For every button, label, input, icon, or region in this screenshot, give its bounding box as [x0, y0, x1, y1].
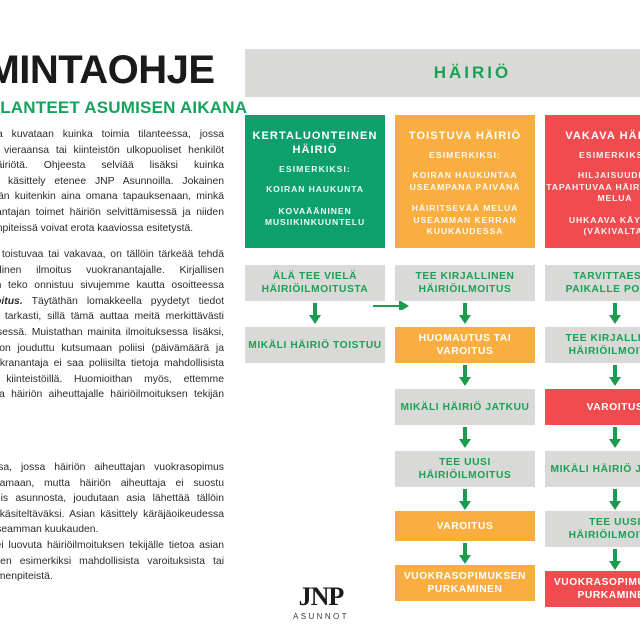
flow-step-box: TEE KIRJALLINEN HÄIRIÖILMOITUS — [545, 327, 640, 363]
flow-step-box: TEE UUSI HÄIRIÖILMOITUS — [545, 511, 640, 547]
flow-step-label: MIKÄLI HÄIRIÖ JATKUU — [401, 401, 530, 414]
flow-step-box: VUOKRASOPIMUKSEN PURKAMINEN — [545, 571, 640, 607]
flow-step-label: VAROITUS — [587, 401, 640, 414]
flow-step-label: VUOKRASOPIMUKSEN PURKAMINEN — [395, 570, 535, 596]
flow-step-label: HUOMAUTUS TAI VAROITUS — [395, 332, 535, 358]
page-subtitle: HÄIRIÖTILANTEET ASUMISEN AIKANA — [0, 98, 247, 118]
arrow-down-icon — [607, 365, 623, 387]
paragraph-court: Mikäli tilanteessa, jossa häiriön aiheut… — [0, 460, 224, 538]
infographic-page: TOIMINTAOHJE HÄIRIÖTILANTEET ASUMISEN AI… — [0, 0, 640, 640]
flow-step-label: TEE UUSI HÄIRIÖILMOITUS — [395, 456, 535, 482]
arrow-down-icon — [457, 543, 473, 565]
flow-step-box: HUOMAUTUS TAI VAROITUS — [395, 327, 535, 363]
arrow-down-icon — [457, 427, 473, 449]
flow-column-orange: TEE KIRJALLINEN HÄIRIÖILMOITUS HUOMAUTUS… — [395, 0, 535, 640]
paragraph-privacy: Vuokranantaja ei luovuta häiriöilmoituks… — [0, 538, 224, 585]
flow-step-box: MIKÄLI HÄIRIÖ JATKUU — [545, 451, 640, 487]
logo-subtitle: ASUNNOT — [282, 612, 360, 621]
paragraph-intro: Tässä ohjeessa kuvataan kuinka toimia ti… — [0, 127, 224, 236]
flow-step-box: VUOKRASOPIMUKSEN PURKAMINEN — [395, 565, 535, 601]
jnp-logo: JNP ASUNNOT — [282, 584, 360, 621]
logo-mark: JNP — [282, 584, 360, 610]
flow-step-box: VAROITUS — [545, 389, 640, 425]
flow-step-box: VAROITUS — [395, 511, 535, 541]
flow-column-red: TARVITTAESSA PAIKALLE POLIISI TEE KIRJAL… — [545, 0, 640, 640]
arrow-down-icon — [307, 303, 323, 325]
flow-diagram: HÄIRIÖ KERTALUONTEINEN HÄIRIÖ ESIMERKIKS… — [240, 0, 640, 640]
flow-step-label: ÄLÄ TEE VIELÄ HÄIRIÖILMOITUSTA — [245, 270, 385, 296]
flow-step-label: VUOKRASOPIMUKSEN PURKAMINEN — [545, 576, 640, 602]
arrow-down-icon — [607, 303, 623, 325]
flow-step-box: TEE KIRJALLINEN HÄIRIÖILMOITUS — [395, 265, 535, 301]
arrow-down-icon — [457, 489, 473, 511]
paragraph-reporting-post: Täytäthän lomakkeella pyydetyt tiedot ma… — [0, 296, 224, 416]
flow-step-label: MIKÄLI HÄIRIÖ TOISTUU — [248, 339, 382, 352]
flow-step-label: TEE UUSI HÄIRIÖILMOITUS — [545, 516, 640, 542]
page-title: TOIMINTAOHJE — [0, 50, 215, 90]
flow-step-label: MIKÄLI HÄIRIÖ JATKUU — [551, 463, 640, 476]
flow-step-box: MIKÄLI HÄIRIÖ TOISTUU — [245, 327, 385, 363]
flow-step-label: VAROITUS — [437, 520, 494, 533]
flow-step-label: TEE KIRJALLINEN HÄIRIÖILMOITUS — [395, 270, 535, 296]
flow-step-box: TEE UUSI HÄIRIÖILMOITUS — [395, 451, 535, 487]
flow-column-green: ÄLÄ TEE VIELÄ HÄIRIÖILMOITUSTA MIKÄLI HÄ… — [245, 0, 385, 640]
arrow-down-icon — [457, 303, 473, 325]
arrow-down-icon — [607, 489, 623, 511]
paragraph-reporting-pre: Mikäli häiriö on toistuvaa tai vakavaa, … — [0, 249, 224, 291]
flow-step-box: TARVITTAESSA PAIKALLE POLIISI — [545, 265, 640, 301]
arrow-down-icon — [607, 549, 623, 571]
arrow-down-icon — [457, 365, 473, 387]
arrow-down-icon — [607, 427, 623, 449]
flow-step-box: MIKÄLI HÄIRIÖ JATKUU — [395, 389, 535, 425]
flow-step-label: TEE KIRJALLINEN HÄIRIÖILMOITUS — [545, 332, 640, 358]
flow-step-box: ÄLÄ TEE VIELÄ HÄIRIÖILMOITUSTA — [245, 265, 385, 301]
flow-step-label: TARVITTAESSA PAIKALLE POLIISI — [545, 270, 640, 296]
report-url-link[interactable]: jnp.fi/hairioilmoitus. — [0, 296, 23, 307]
paragraph-reporting: Mikäli häiriö on toistuvaa tai vakavaa, … — [0, 247, 224, 419]
